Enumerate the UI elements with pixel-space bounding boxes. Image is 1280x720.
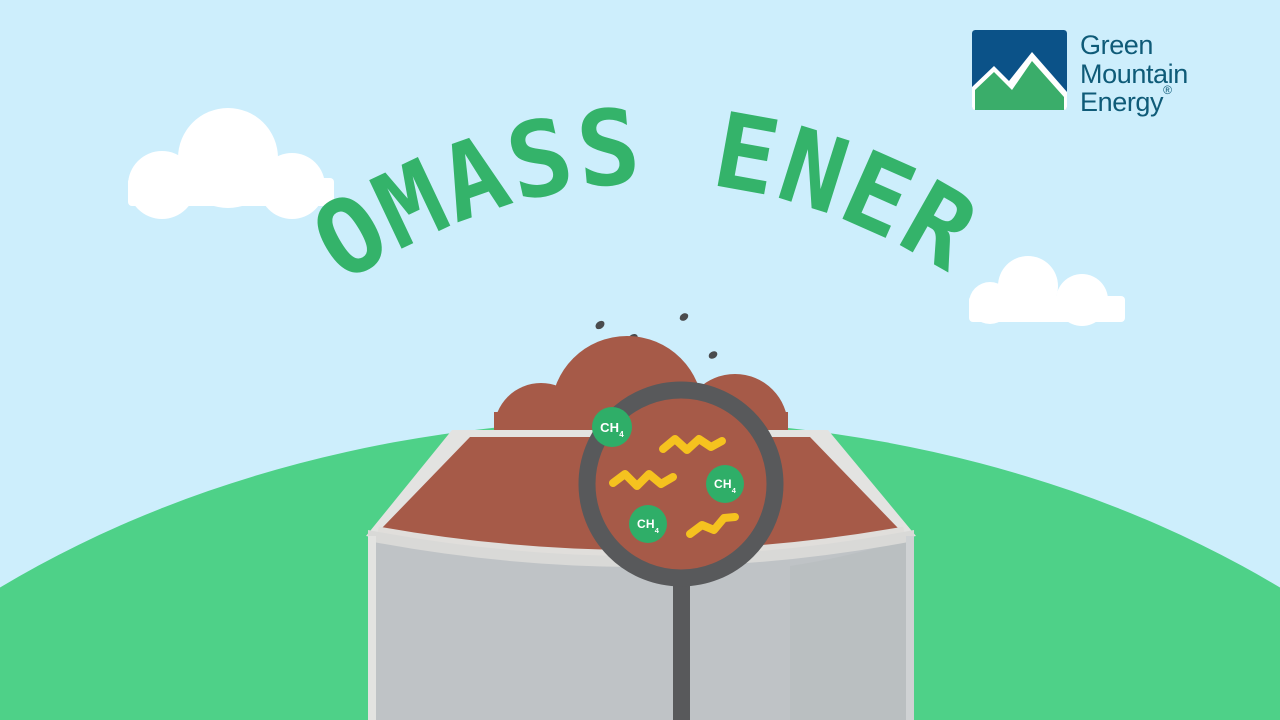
methane-bubble-3: CH4: [629, 505, 667, 543]
biomass-energy-illustration: CH4 CH4 CH4 BIOMASS ENERGY Green Mountai…: [0, 0, 1280, 720]
brand-line-3: Energy®: [1080, 88, 1188, 117]
green-mountain-energy-logo-mark: [972, 30, 1067, 110]
bin-edge-right: [906, 536, 914, 720]
methane-bubble-label-3: CH4: [637, 517, 659, 531]
methane-bubble-label-2: CH4: [714, 477, 736, 491]
registered-mark-icon: ®: [1163, 83, 1171, 97]
bin-edge-left: [368, 536, 376, 720]
methane-bubble-1: CH4: [592, 407, 632, 447]
brand-wordmark: Green Mountain Energy®: [1080, 30, 1188, 117]
brand-line-1: Green: [1080, 31, 1188, 60]
methane-bubble-label-1: CH4: [600, 420, 624, 435]
bin-body-shade: [790, 536, 914, 720]
methane-bubble-2: CH4: [706, 465, 744, 503]
brand-logo[interactable]: Green Mountain Energy®: [972, 30, 1224, 126]
